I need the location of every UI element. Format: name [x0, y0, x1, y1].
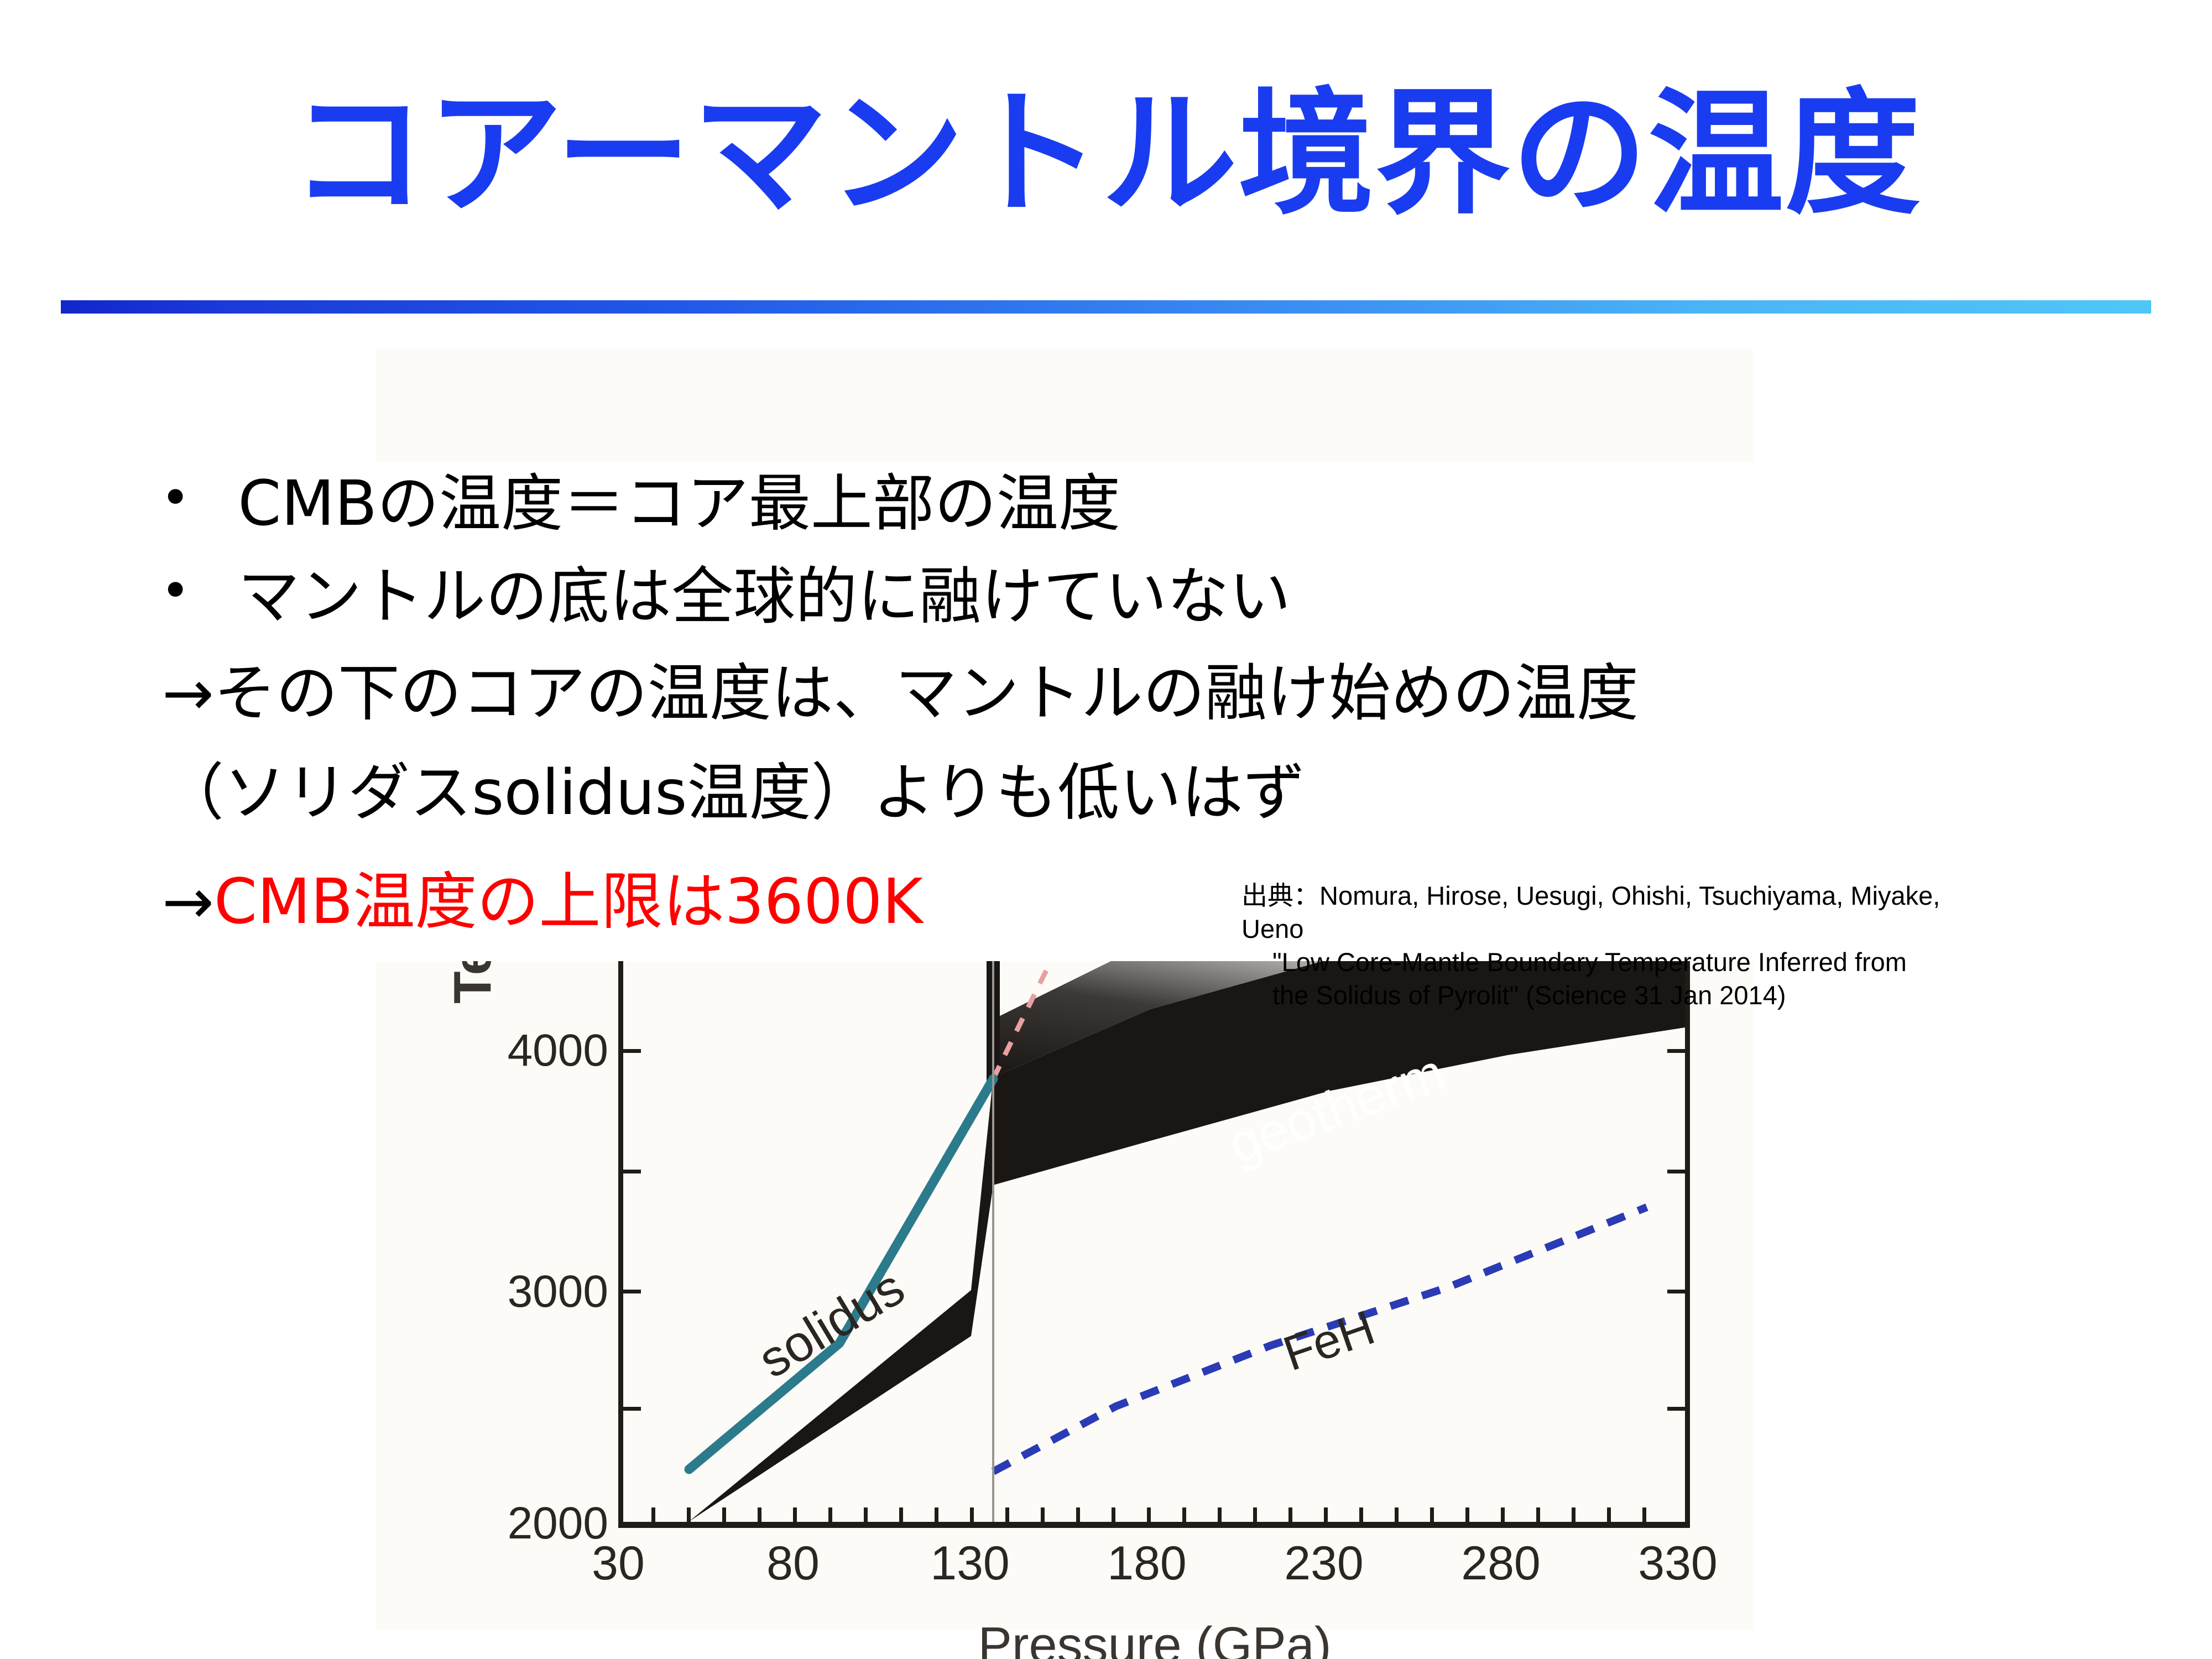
x-minor-tick — [1607, 1507, 1611, 1522]
bullet-item-1: • CMBの温度＝コア最上部の温度 — [160, 473, 1120, 535]
x-minor-tick — [864, 1507, 868, 1522]
conclusion-arrow-icon: → — [162, 866, 214, 938]
x-minor-tick — [1395, 1507, 1399, 1522]
chart-y-axis — [618, 953, 623, 1528]
x-minor-tick — [687, 1507, 691, 1522]
y-tick-3500 — [623, 1170, 641, 1173]
x-tick-label-280: 280 — [1432, 1536, 1570, 1591]
x-minor-tick — [828, 1507, 832, 1522]
x-tick-label-30: 30 — [549, 1536, 687, 1591]
x-tick-180 — [1147, 1507, 1151, 1522]
x-minor-tick — [1288, 1507, 1292, 1522]
x-tick-230 — [1324, 1507, 1328, 1522]
x-minor-tick — [1005, 1507, 1009, 1522]
x-minor-tick — [1465, 1507, 1469, 1522]
x-minor-tick — [1218, 1507, 1222, 1522]
citation-prefix: 出典： — [1241, 881, 1319, 910]
page-title: コアーマントル境界の温度 — [0, 83, 2212, 225]
y-tick-right-2500 — [1667, 1407, 1685, 1411]
y-tick-label-3000: 3000 — [442, 1266, 608, 1318]
y-tick-right-3000 — [1667, 1290, 1685, 1293]
x-tick-label-80: 80 — [724, 1536, 862, 1591]
y-tick-right-4000 — [1667, 1049, 1685, 1053]
x-minor-tick — [1572, 1507, 1575, 1522]
x-minor-tick — [1430, 1507, 1434, 1522]
chart-plot-area: 4000 3000 2000 — [618, 953, 1690, 1528]
x-minor-tick — [935, 1507, 938, 1522]
conclusion-line: →CMB温度の上限は3600K — [162, 871, 923, 933]
title-divider — [61, 300, 2151, 314]
x-minor-tick — [1642, 1507, 1646, 1522]
x-minor-tick — [758, 1507, 761, 1522]
x-minor-tick — [1253, 1507, 1257, 1522]
citation-line3: the Solidus of Pyrolit" (Science 31 Jan … — [1241, 979, 1971, 1012]
conclusion-text: CMB温度の上限は3600K — [214, 866, 923, 938]
y-tick-4000 — [623, 1049, 641, 1053]
x-minor-tick — [1076, 1507, 1080, 1522]
citation-authors: Nomura, Hirose, Uesugi, Ohishi, Tsuchiya… — [1241, 881, 1940, 943]
y-tick-right-3500 — [1667, 1170, 1685, 1173]
x-tick-80 — [793, 1507, 797, 1522]
bullet-marker-icon: • — [160, 473, 190, 524]
bullet-marker-icon: • — [160, 566, 190, 617]
x-axis-title: Pressure (GPa) — [768, 1616, 1542, 1659]
y-tick-label-4000: 4000 — [442, 1025, 608, 1077]
y-tick-3000 — [623, 1290, 641, 1293]
x-tick-label-180: 180 — [1078, 1536, 1216, 1591]
x-tick-label-230: 230 — [1255, 1536, 1393, 1591]
x-minor-tick — [1536, 1507, 1540, 1522]
x-minor-tick — [1041, 1507, 1045, 1522]
chart-x-axis — [618, 1522, 1690, 1528]
bullet-item-2: • マントルの底は全球的に融けていない — [160, 566, 1291, 628]
x-tick-label-130: 130 — [901, 1536, 1039, 1591]
slide-canvas: 7000 CMB — [0, 0, 2212, 1659]
x-tick-label-330: 330 — [1609, 1536, 1747, 1591]
chart-right-axis — [1685, 953, 1690, 1528]
geotherm-band — [623, 953, 1685, 1522]
bullet-text-1: CMBの温度＝コア最上部の温度 — [238, 473, 1120, 535]
x-minor-tick — [722, 1507, 726, 1522]
bullet-text-2: マントルの底は全球的に融けていない — [238, 566, 1291, 628]
x-minor-tick — [899, 1507, 903, 1522]
x-minor-tick — [1112, 1507, 1115, 1522]
x-minor-tick — [1359, 1507, 1363, 1522]
x-tick-130 — [970, 1507, 974, 1522]
citation-line2: "Low Core-Mantle Boundary Temperature In… — [1241, 946, 1971, 979]
body-line-2: （ソリダスsolidus温度）よりも低いはず — [162, 762, 1305, 824]
y-tick-2500 — [623, 1407, 641, 1411]
body-line-1: →その下のコアの温度は、マントルの融け始めの温度 — [162, 662, 1639, 724]
x-minor-tick — [651, 1507, 655, 1522]
x-minor-tick — [1182, 1507, 1186, 1522]
x-tick-280 — [1501, 1507, 1505, 1522]
chart-svg — [618, 953, 1690, 1528]
citation-block: 出典：Nomura, Hirose, Uesugi, Ohishi, Tsuch… — [1241, 879, 1971, 1013]
